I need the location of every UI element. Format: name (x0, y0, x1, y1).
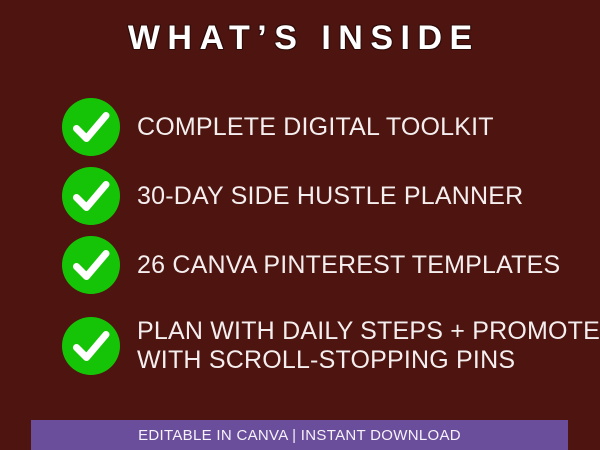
title-block: WHAT’S INSIDE (0, 18, 600, 58)
list-item-label: 26 CANVA PINTEREST TEMPLATES (137, 251, 600, 280)
check-circle-icon (62, 317, 120, 375)
page-title: WHAT’S INSIDE (120, 18, 479, 58)
list-item-label: COMPLETE DIGITAL TOOLKIT (137, 113, 600, 142)
list-item-label: PLAN WITH DAILY STEPS + PROMOTE WITH SCR… (137, 317, 600, 375)
list-item: 26 CANVA PINTEREST TEMPLATES (62, 230, 600, 300)
bottom-banner-label: EDITABLE IN CANVA | INSTANT DOWNLOAD (138, 427, 461, 444)
check-circle-icon (62, 236, 120, 294)
list-item: PLAN WITH DAILY STEPS + PROMOTE WITH SCR… (62, 305, 600, 387)
list-item: 30-DAY SIDE HUSTLE PLANNER (62, 161, 600, 231)
list-item-label: 30-DAY SIDE HUSTLE PLANNER (137, 182, 600, 211)
check-circle-icon (62, 98, 120, 156)
bottom-banner: EDITABLE IN CANVA | INSTANT DOWNLOAD (31, 420, 568, 450)
list-item: COMPLETE DIGITAL TOOLKIT (62, 92, 600, 162)
check-circle-icon (62, 167, 120, 225)
poster-canvas: WHAT’S INSIDE COMPLETE DIGITAL TOOLKIT 3… (0, 0, 600, 450)
